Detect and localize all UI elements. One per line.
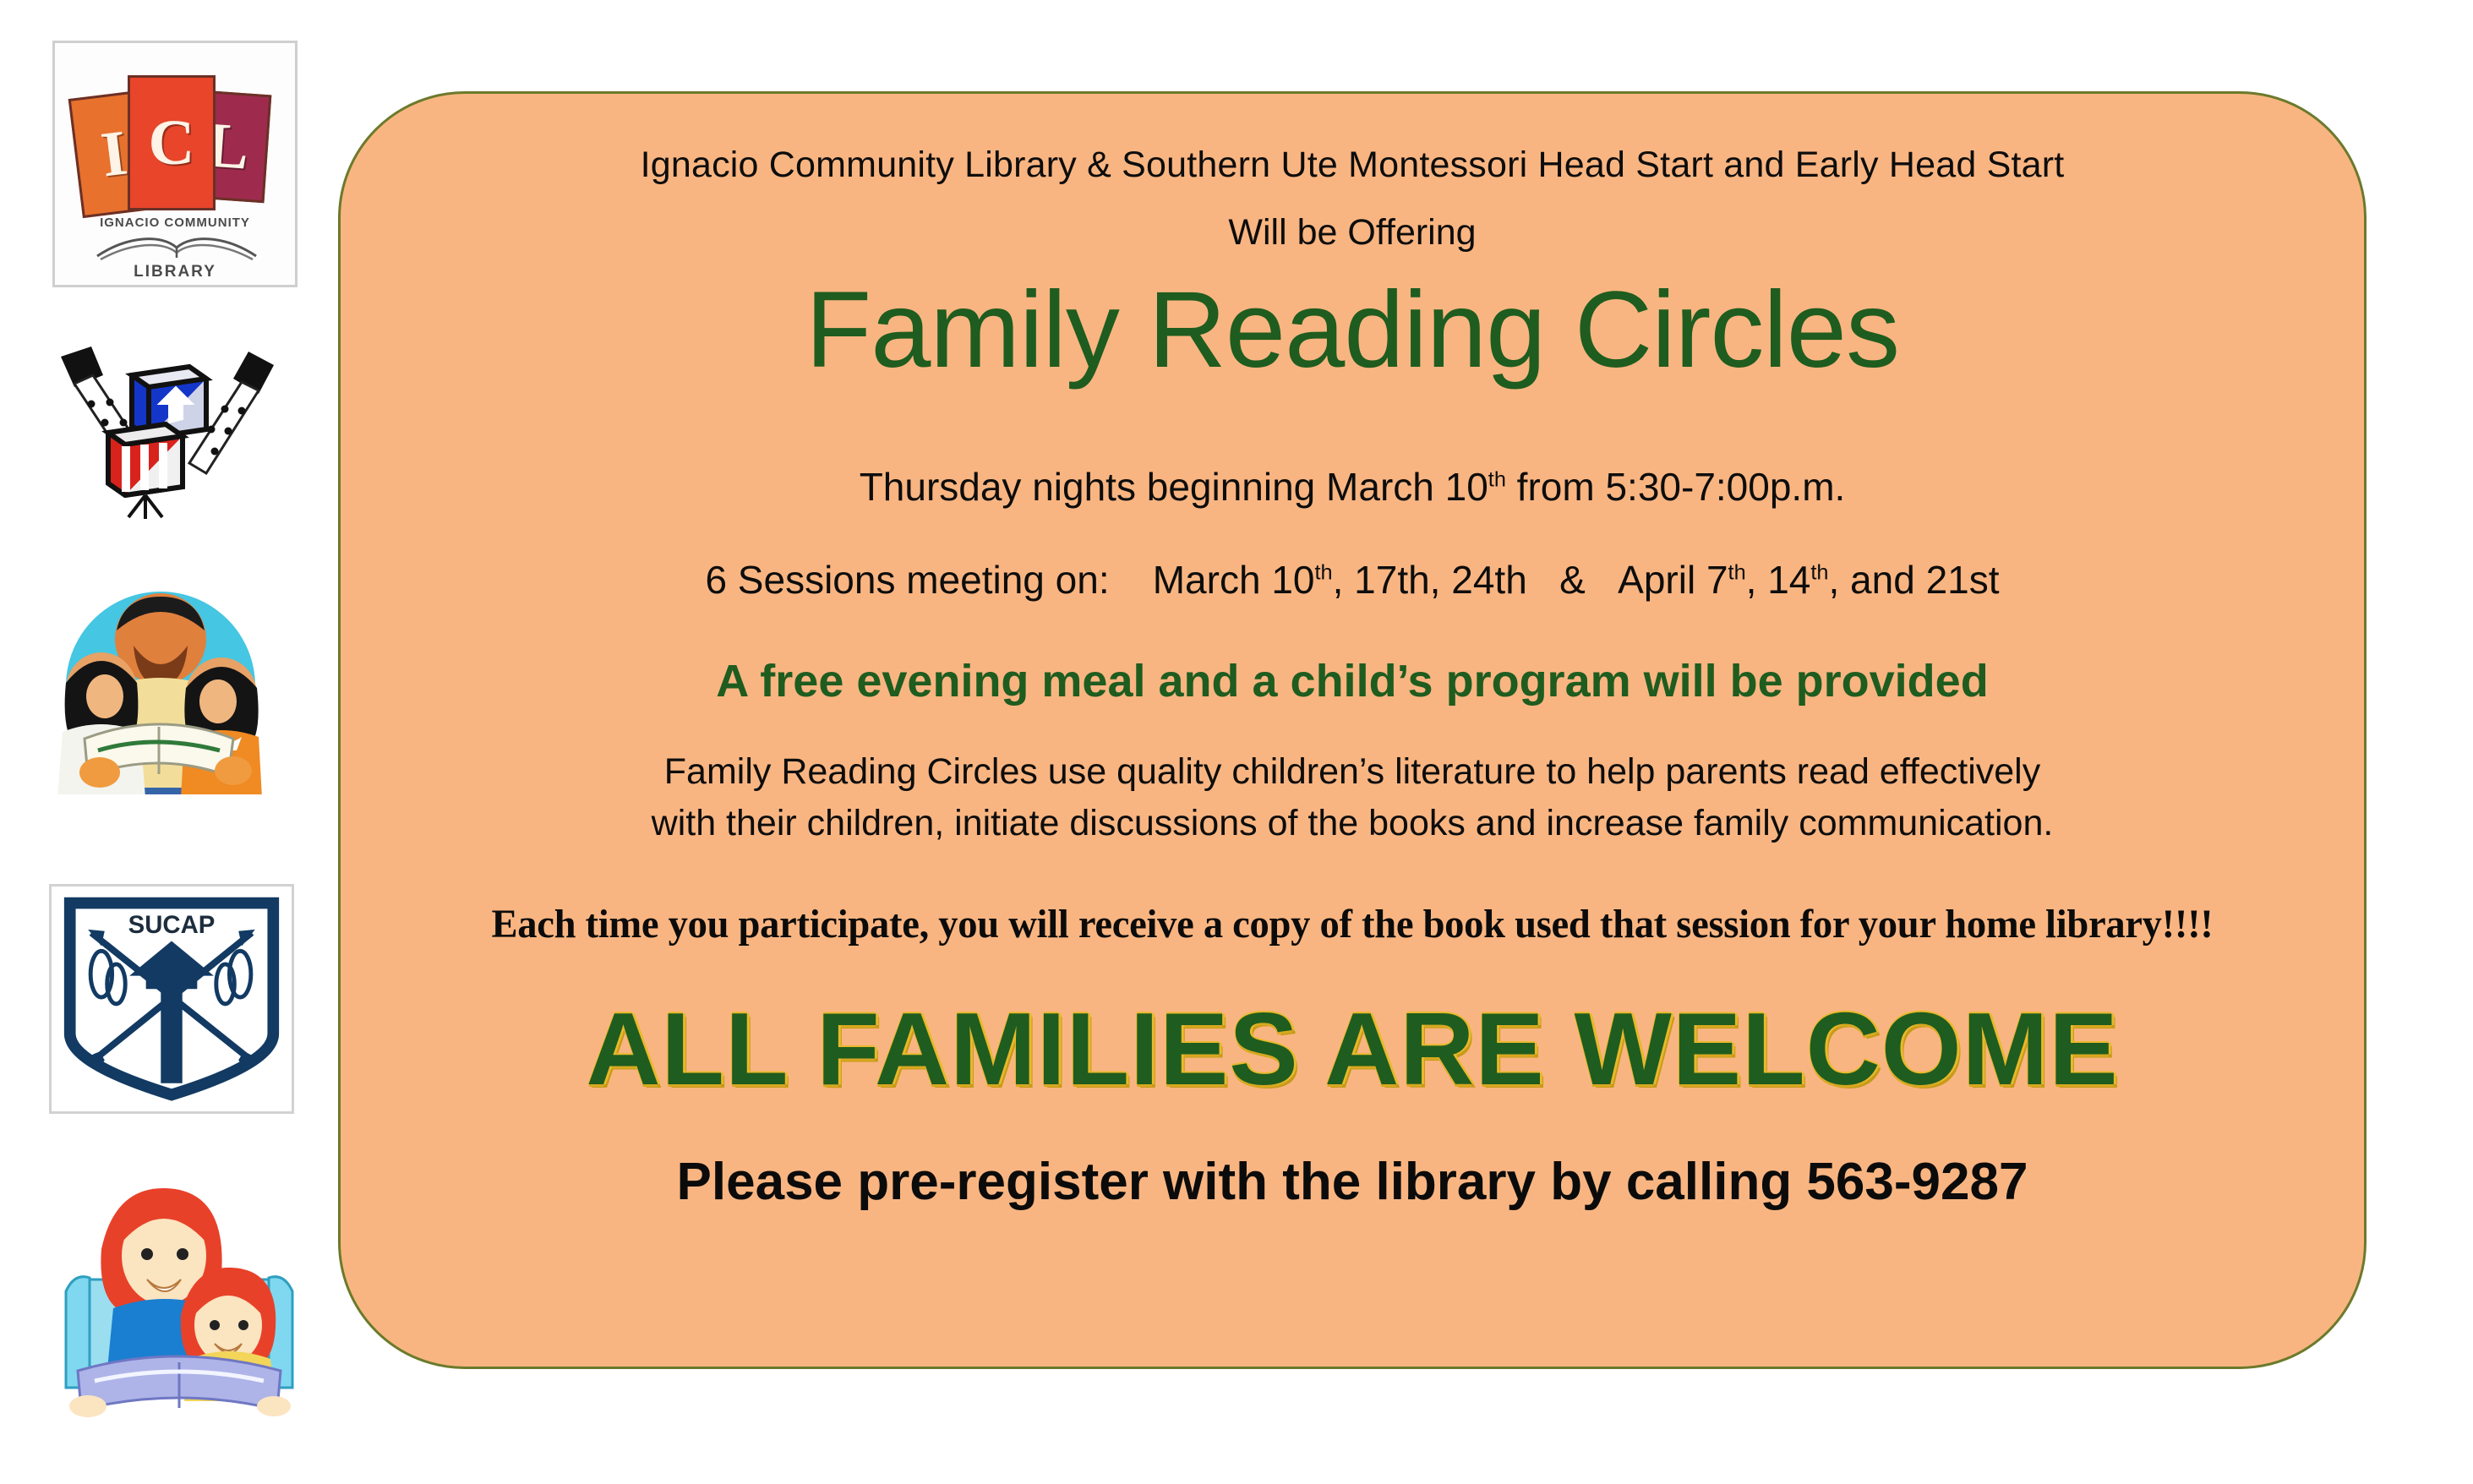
red-striped-block: [108, 424, 183, 495]
sessions-april-prefix: April 7: [1618, 558, 1728, 602]
pre-register-line: Please pre-register with the library by …: [341, 1152, 2364, 1212]
mother-child-reading-image: [52, 1173, 306, 1418]
icl-arc-text: IGNACIO COMMUNITY: [62, 216, 288, 230]
mother-child-illustration: [52, 1173, 306, 1418]
icl-card-center: C: [128, 75, 216, 210]
sucap-word: SUCAP: [128, 911, 216, 939]
sessions-april-ordinal-1: th: [1728, 561, 1746, 585]
flyer-panel: Ignacio Community Library & Southern Ute…: [338, 91, 2367, 1369]
time-suffix: from 5:30-7:00p.m.: [1506, 465, 1845, 509]
description-line-1: Family Reading Circles use quality child…: [341, 746, 2364, 798]
description-line-2: with their children, initiate discussion…: [341, 798, 2364, 849]
description-block: Family Reading Circles use quality child…: [341, 746, 2364, 849]
sucap-logo: SUCAP: [49, 884, 294, 1114]
head-start-icon: [41, 338, 294, 532]
sessions-march-rest: , 17th, 24th: [1333, 558, 1527, 602]
sessions-label: 6 Sessions meeting on:: [705, 558, 1109, 602]
sessions-april-rest: , and 21st: [1829, 558, 2000, 602]
book-copy-line: Each time you participate, you will rece…: [371, 901, 2334, 947]
logo-sidebar: I L C IGNACIO COMMUNITY LIBRARY: [0, 0, 330, 1484]
page-title: Family Reading Circles: [341, 263, 2364, 398]
all-families-welcome-line: ALL FAMILIES ARE WELCOME: [341, 990, 2364, 1108]
sessions-april-mid: , 14: [1746, 558, 1811, 602]
offering-line: Will be Offering: [341, 212, 2364, 254]
sessions-ampersand: &: [1559, 558, 1586, 602]
sessions-april-ordinal-2: th: [1810, 561, 1828, 585]
sessions-march-prefix: March 10: [1153, 558, 1315, 602]
free-meal-line: A free evening meal and a child’s progra…: [341, 655, 2364, 707]
family-reading-image: [34, 592, 287, 794]
icl-letter-c: C: [130, 111, 213, 175]
icl-logo-art: I L C IGNACIO COMMUNITY LIBRARY: [62, 50, 288, 278]
sucap-shield-icon: SUCAP: [52, 887, 292, 1111]
time-prefix: Thursday nights beginning March 10: [860, 465, 1488, 509]
icl-library-word: LIBRARY: [62, 263, 288, 281]
family-reading-illustration: [34, 592, 287, 794]
open-book-icon: [94, 231, 259, 265]
sessions-line: 6 Sessions meeting on: March 10th, 17th,…: [341, 557, 2364, 603]
sessions-march-ordinal: th: [1314, 561, 1332, 585]
organizations-line: Ignacio Community Library & Southern Ute…: [341, 145, 2364, 186]
time-ordinal-suffix: th: [1488, 468, 1506, 492]
icl-logo: I L C IGNACIO COMMUNITY LIBRARY: [52, 41, 298, 287]
schedule-time-line: Thursday nights beginning March 10th fro…: [341, 464, 2364, 510]
head-start-blocks-logo: [41, 338, 294, 532]
